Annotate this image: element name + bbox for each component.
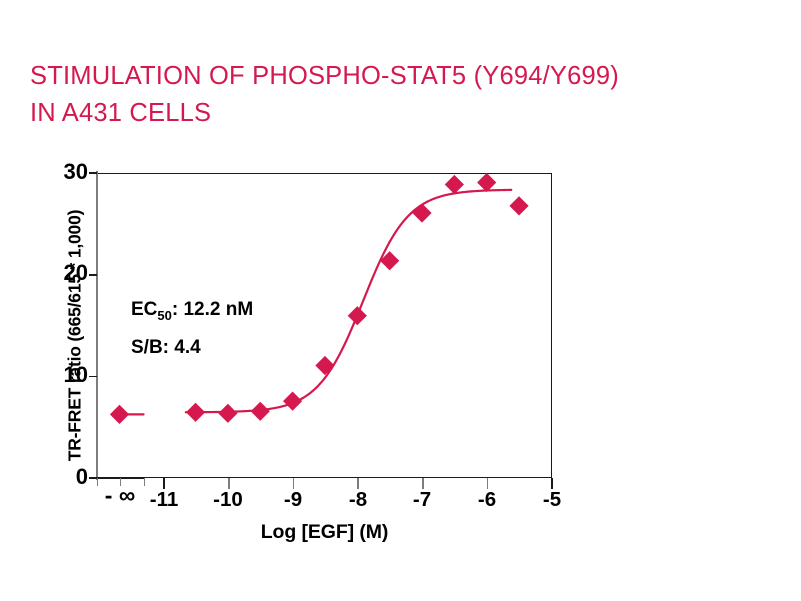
data-point-markers [110, 173, 529, 424]
data-point-marker [218, 404, 237, 423]
data-point-marker [412, 203, 431, 222]
data-layer [0, 0, 801, 601]
data-point-marker [348, 306, 367, 325]
data-point-marker [509, 196, 528, 215]
data-point-marker [315, 356, 334, 375]
data-point-marker [251, 402, 270, 421]
data-point-marker [186, 403, 205, 422]
data-point-marker [445, 175, 464, 194]
sigmoid-fit-curve [186, 190, 511, 412]
data-point-marker [283, 392, 302, 411]
data-point-marker [110, 405, 129, 424]
chart-figure: STIMULATION OF PHOSPHO-STAT5 (Y694/Y699)… [0, 0, 801, 601]
